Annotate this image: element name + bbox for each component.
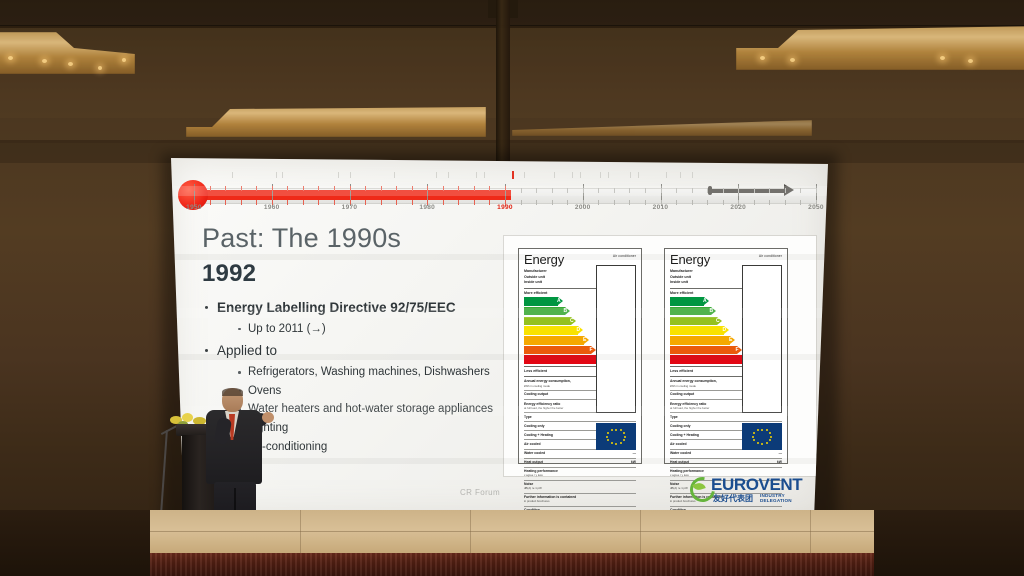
timeline-year-1990: 1990 (497, 204, 513, 211)
timeline-minor-tick (241, 200, 242, 205)
eu-star (615, 429, 617, 431)
speaker-hand (262, 412, 274, 423)
energy-data-row: Water cooled— (670, 451, 782, 456)
eu-star (757, 429, 759, 431)
timeline-minor-tick (598, 188, 599, 193)
timeline-year-2010: 2010 (653, 204, 669, 211)
timeline-minor-tick (567, 188, 568, 193)
row-label: Heat output (524, 460, 543, 465)
eu-star (769, 439, 771, 441)
timeline-minor-tick (318, 186, 319, 191)
ceiling-spotlight (8, 56, 13, 60)
row-label: Cooling output (670, 392, 694, 397)
row-label: Water cooled (670, 451, 691, 456)
ceiling-spotlight (98, 66, 102, 70)
ceiling-spotlight (760, 56, 765, 60)
floor-left (0, 510, 150, 576)
timeline-year-1970: 1970 (342, 204, 358, 211)
timeline-minor-tick (723, 188, 724, 193)
eu-star (615, 443, 617, 445)
timeline-minor-tick (598, 200, 599, 205)
eu-star (607, 439, 609, 441)
bullet-text: Energy Labelling Directive 92/75/EEC (217, 300, 456, 315)
timeline-minor-tick (676, 188, 677, 193)
row-label: Cooling + Heating (670, 433, 699, 438)
stage-deck (0, 510, 1024, 554)
timeline-minor-tick (256, 186, 257, 191)
eu-star (766, 429, 768, 431)
eu-flag-icon (742, 423, 782, 450)
row-label: Water cooled (524, 451, 545, 456)
timeline-minor-tick (396, 200, 397, 205)
ceiling-edge (0, 25, 1024, 28)
row-label: Cooling only (524, 424, 545, 429)
timeline-minor-tick (692, 188, 693, 193)
energy-labels-panel: EnergyAir conditionerManufacturerOutside… (504, 236, 816, 476)
energy-label-appliance: Air conditioner (613, 254, 636, 258)
logo-chinese-text: 友好代表团 (713, 493, 753, 504)
grade-letter-E: E (729, 337, 732, 343)
grade-letter-D: D (577, 327, 581, 333)
row-label: Type (524, 415, 532, 420)
logo-subline: INDUSTRY DELEGATION (760, 493, 792, 504)
row-value: kW (631, 460, 636, 465)
row-subtext: x agree / y less (524, 474, 636, 478)
timeline-minor-tick (676, 200, 677, 205)
eu-star (770, 436, 772, 438)
ceiling-spotlight (42, 59, 47, 63)
timeline-minor-tick (692, 200, 693, 205)
stage-skirt (0, 553, 1024, 576)
grade-letter-F: F (736, 347, 739, 353)
gold-wave-panel-center (186, 105, 486, 137)
timeline-minor-tick (738, 188, 739, 193)
slide-year-heading: 1992 (202, 260, 532, 288)
slide-footer: CR Forum (460, 488, 500, 497)
timeline-year-1960: 1960 (264, 204, 280, 211)
ceiling-spotlight (968, 59, 973, 63)
ceiling-pillar (496, 0, 510, 170)
timeline-minor-tick (521, 188, 522, 193)
timeline-minor-tick (754, 188, 755, 193)
timeline-marker-1992 (512, 171, 514, 179)
eu-star (620, 442, 622, 444)
row-label: Cooling output (524, 392, 548, 397)
timeline-minor-tick (785, 188, 786, 193)
timeline-minor-tick (287, 186, 288, 191)
timeline-minor-tick (614, 200, 615, 205)
timeline-minor-tick (800, 188, 801, 193)
timeline-minor-tick (536, 188, 537, 193)
eu-star (752, 436, 754, 438)
eu-star (607, 432, 609, 434)
eu-star (761, 443, 763, 445)
timeline-minor-tick (816, 188, 817, 193)
upper-wall-band (0, 26, 1024, 118)
timeline-year-1950: 1950 (186, 204, 202, 211)
grade-letter-C: C (716, 318, 720, 324)
timeline-minor-tick (225, 200, 226, 205)
energy-label-title: Energy (670, 253, 710, 266)
row-subtext: in product brochures (524, 500, 636, 504)
eu-star (620, 429, 622, 431)
energy-data-row: Heat outputkW (524, 460, 636, 465)
timeline-minor-tick (800, 200, 801, 205)
timeline-minor-tick (769, 200, 770, 205)
energy-label-card: EnergyAir conditionerManufacturerOutside… (518, 248, 642, 464)
timeline-minor-tick (661, 188, 662, 193)
bullet-text: Water heaters and hot-water storage appl… (248, 403, 493, 415)
eurovent-logo: EUROVENT 友好代表团 INDUSTRY DELEGATION (690, 474, 810, 506)
row-label: Heat output (670, 460, 689, 465)
eu-star (623, 439, 625, 441)
timeline-minor-tick (629, 188, 630, 193)
eu-star (623, 432, 625, 434)
timeline-minor-tick (645, 200, 646, 205)
timeline-minor-tick (443, 186, 444, 191)
floor-right (874, 510, 1024, 576)
timeline-minor-tick (225, 186, 226, 191)
row-subtext: dB(A) re 1 pW (524, 487, 636, 491)
grade-letter-B: B (564, 308, 568, 314)
speaker-hair (222, 388, 243, 396)
grade-letter-C: C (570, 318, 574, 324)
timeline-minor-tick (769, 188, 770, 193)
bullet-text: Up to 2011 (→) (248, 323, 326, 335)
timeline-year-2020: 2020 (730, 204, 746, 211)
timeline-graphic: 195019601970198019902000201020202050 (168, 164, 832, 224)
eu-star (769, 432, 771, 434)
timeline-year-2050: 2050 (808, 204, 824, 211)
grade-letter-B: B (710, 308, 714, 314)
eu-star (753, 439, 755, 441)
eu-star (624, 436, 626, 438)
grade-letter-A: A (557, 298, 561, 304)
ceiling-spotlight (790, 58, 795, 62)
gold-wave-panel-right (736, 26, 1024, 70)
timeline-minor-tick (785, 200, 786, 205)
energy-value-box (742, 265, 782, 413)
ceiling-spotlight (122, 58, 126, 62)
timeline-minor-tick (583, 188, 584, 193)
eu-star (761, 429, 763, 431)
bullet-text: Applied to (217, 343, 277, 358)
timeline-minor-tick (629, 200, 630, 205)
timeline-minor-tick (350, 186, 351, 191)
timeline-minor-tick (381, 200, 382, 205)
logo-wordmark: EUROVENT (711, 476, 802, 493)
timeline-minor-tick (287, 200, 288, 205)
timeline-minor-tick (381, 186, 382, 191)
timeline-minor-tick (427, 186, 428, 191)
bullet-text: Refrigerators, Washing machines, Dishwas… (248, 366, 490, 378)
eu-star (606, 436, 608, 438)
timeline-minor-tick (412, 200, 413, 205)
slide-title: Past: The 1990s (202, 224, 532, 254)
timeline-year-2000: 2000 (575, 204, 591, 211)
gold-wave-panel-center-right (512, 120, 812, 136)
timeline-minor-tick (365, 200, 366, 205)
energy-data-row: Water cooled— (524, 451, 636, 456)
row-label: Cooling only (670, 424, 691, 429)
timeline-minor-tick (754, 200, 755, 205)
bullet-refrigerators: Refrigerators, Washing machines, Dishwas… (235, 363, 532, 382)
timeline-minor-tick (443, 200, 444, 205)
timeline-minor-tick (241, 186, 242, 191)
row-label: Air cooled (670, 442, 687, 447)
eu-star (611, 429, 613, 431)
timeline-minor-tick (318, 200, 319, 205)
timeline-minor-tick (303, 186, 304, 191)
ceiling-spotlight (940, 56, 945, 60)
logo-subline-2: DELEGATION (760, 498, 792, 503)
timeline-minor-tick (334, 200, 335, 205)
eu-star (753, 432, 755, 434)
timeline-minor-tick (365, 186, 366, 191)
timeline-minor-tick (489, 186, 490, 191)
timeline-minor-tick (707, 188, 708, 193)
energy-value-box (596, 265, 636, 413)
row-value: kW (777, 460, 782, 465)
wall-trim-line (0, 140, 1024, 143)
timeline-minor-tick (521, 200, 522, 205)
bullet-directive: Energy Labelling Directive 92/75/EEC Up … (202, 297, 532, 338)
eu-star (757, 442, 759, 444)
timeline-minor-tick (303, 200, 304, 205)
row-value: — (633, 451, 636, 456)
eu-flag-icon (596, 423, 636, 450)
timeline-minor-tick (723, 200, 724, 205)
timeline-minor-tick (505, 186, 506, 191)
row-label: Type (670, 415, 678, 420)
timeline-year-1980: 1980 (419, 204, 435, 211)
bullet-up-to-2011: Up to 2011 (→) (235, 320, 532, 339)
ceiling-spotlight (68, 62, 73, 66)
grade-letter-E: E (583, 337, 586, 343)
timeline-minor-tick (210, 200, 211, 205)
grade-letter-D: D (723, 327, 727, 333)
timeline-minor-tick (474, 200, 475, 205)
timeline-minor-tick (256, 200, 257, 205)
timeline-minor-tick (567, 200, 568, 205)
timeline-minor-tick (458, 186, 459, 191)
timeline-minor-tick (645, 188, 646, 193)
energy-data-row: Type (670, 415, 782, 420)
energy-label-appliance: Air conditioner (759, 254, 782, 258)
row-label: Cooling + Heating (524, 433, 553, 438)
eu-star (611, 442, 613, 444)
energy-data-row: Type (524, 415, 636, 420)
timeline-minor-tick (489, 200, 490, 205)
timeline-minor-tick (396, 186, 397, 191)
stage-platform (0, 510, 1024, 576)
timeline-minor-tick (272, 186, 273, 191)
timeline-minor-tick (536, 200, 537, 205)
grade-letter-A: A (703, 298, 707, 304)
timeline-minor-tick (552, 188, 553, 193)
energy-data-row: Heat outputkW (670, 460, 782, 465)
timeline-minor-tick (412, 186, 413, 191)
timeline-minor-tick (552, 200, 553, 205)
timeline-minor-tick (707, 200, 708, 205)
timeline-minor-tick (210, 186, 211, 191)
sub-bullet-list: Up to 2011 (→) (217, 320, 532, 339)
timeline-minor-tick (458, 200, 459, 205)
row-label: Air cooled (524, 442, 541, 447)
timeline-minor-tick (614, 188, 615, 193)
gold-wave-panel-left (0, 32, 135, 74)
row-value: — (779, 451, 782, 456)
timeline-minor-tick (474, 186, 475, 191)
timeline-progress (194, 190, 511, 200)
timeline-minor-tick (334, 186, 335, 191)
energy-label-card: EnergyAir conditionerManufacturerOutside… (664, 248, 788, 464)
grade-letter-F: F (590, 347, 593, 353)
timeline-minor-tick (194, 186, 195, 191)
energy-label-title: Energy (524, 253, 564, 266)
eu-star (766, 442, 768, 444)
presentation-room-photo: 195019601970198019902000201020202050 Pas… (0, 0, 1024, 576)
